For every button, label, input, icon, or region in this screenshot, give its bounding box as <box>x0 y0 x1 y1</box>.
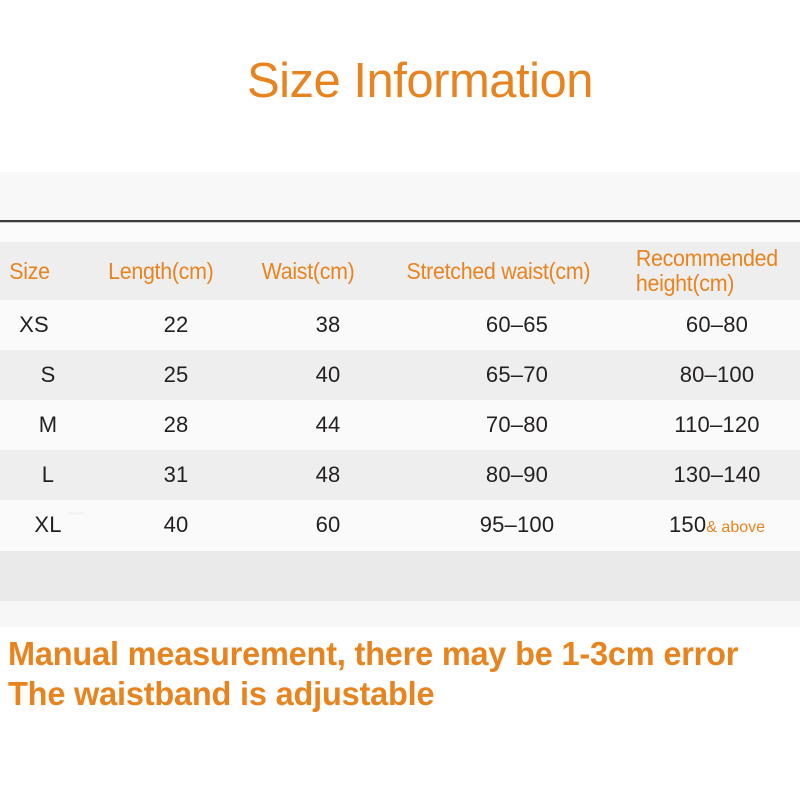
title-area: Size Information <box>0 0 800 172</box>
cell-recommended-height: 80–100 <box>634 350 800 400</box>
table-row: S 25 40 65–70 80–100 <box>0 350 800 400</box>
cell-waist: 48 <box>256 450 400 500</box>
table-row: XL 40 60 95–100 150& above <box>0 500 800 550</box>
cell-recommended-height-value: 60–80 <box>686 312 748 337</box>
cell-length: 31 <box>96 450 256 500</box>
notes-area: Manual measurement, there may be 1-3cm e… <box>8 634 800 714</box>
header-spacer-cell <box>256 223 400 242</box>
cell-recommended-height-value: 80–100 <box>680 362 755 387</box>
column-header-stretched-waist: Stretched waist(cm) <box>400 242 634 300</box>
column-header-waist-label: Waist(cm) <box>256 259 390 284</box>
cell-waist: 44 <box>256 400 400 450</box>
note-waistband-adjustable: The waistband is adjustable <box>8 674 788 714</box>
column-header-length-label: Length(cm) <box>96 259 245 284</box>
cell-recommended-height: 150& above <box>634 500 800 550</box>
cell-size: M <box>0 400 96 450</box>
table-bottom-band-light <box>0 601 800 627</box>
size-table-body: XS 22 38 60–65 60–80 S 25 40 65–70 80–10… <box>0 300 800 550</box>
size-table-head: Size Length(cm) Waist(cm) Stretched wais… <box>0 223 800 300</box>
cell-waist: 38 <box>256 300 400 350</box>
cell-recommended-height-value: 110–120 <box>674 412 759 437</box>
cell-length: 40 <box>96 500 256 550</box>
size-chart-page: Size Information <box>0 0 800 800</box>
column-header-length: Length(cm) <box>96 242 256 300</box>
cell-recommended-height-value: 150 <box>669 512 706 537</box>
cell-size: XL <box>0 500 96 550</box>
cell-size: XS <box>0 300 96 350</box>
cell-recommended-height: 130–140 <box>634 450 800 500</box>
page-title: Size Information <box>0 50 800 112</box>
size-table: Size Length(cm) Waist(cm) Stretched wais… <box>0 223 800 550</box>
column-header-size: Size <box>0 242 96 300</box>
cell-stretched-waist: 65–70 <box>400 350 634 400</box>
cell-stretched-waist: 80–90 <box>400 450 634 500</box>
table-top-strip <box>0 172 800 220</box>
cell-length: 28 <box>96 400 256 450</box>
size-table-container: Size Length(cm) Waist(cm) Stretched wais… <box>0 223 800 550</box>
header-spacer-cell <box>96 223 256 242</box>
cell-recommended-height: 60–80 <box>634 300 800 350</box>
cell-waist: 60 <box>256 500 400 550</box>
cell-stretched-waist: 60–65 <box>400 300 634 350</box>
cell-size: S <box>0 350 96 400</box>
cell-recommended-height-value: 130–140 <box>673 462 760 487</box>
size-table-header-row: Size Length(cm) Waist(cm) Stretched wais… <box>0 242 800 300</box>
table-row: L 31 48 80–90 130–140 <box>0 450 800 500</box>
cell-waist: 40 <box>256 350 400 400</box>
header-spacer-cell <box>634 223 800 242</box>
cell-size: L <box>0 450 96 500</box>
column-header-recommended-height-label: Recommended height(cm) <box>634 246 788 296</box>
column-header-size-label: Size <box>0 259 89 284</box>
cell-stretched-waist: 70–80 <box>400 400 634 450</box>
scan-artifact <box>68 512 84 515</box>
header-spacer-cell <box>400 223 634 242</box>
cell-length: 22 <box>96 300 256 350</box>
cell-recommended-height-suffix: & above <box>706 519 765 536</box>
header-spacer-cell <box>0 223 96 242</box>
header-spacer-row <box>0 223 800 242</box>
column-header-recommended-height: Recommended height(cm) <box>634 242 800 300</box>
cell-length: 25 <box>96 350 256 400</box>
note-measurement-error: Manual measurement, there may be 1-3cm e… <box>8 634 788 674</box>
table-row: M 28 44 70–80 110–120 <box>0 400 800 450</box>
cell-stretched-waist: 95–100 <box>400 500 634 550</box>
cell-recommended-height: 110–120 <box>634 400 800 450</box>
table-bottom-band-dark <box>0 551 800 601</box>
table-row: XS 22 38 60–65 60–80 <box>0 300 800 350</box>
column-header-stretched-waist-label: Stretched waist(cm) <box>400 259 618 284</box>
column-header-waist: Waist(cm) <box>256 242 400 300</box>
